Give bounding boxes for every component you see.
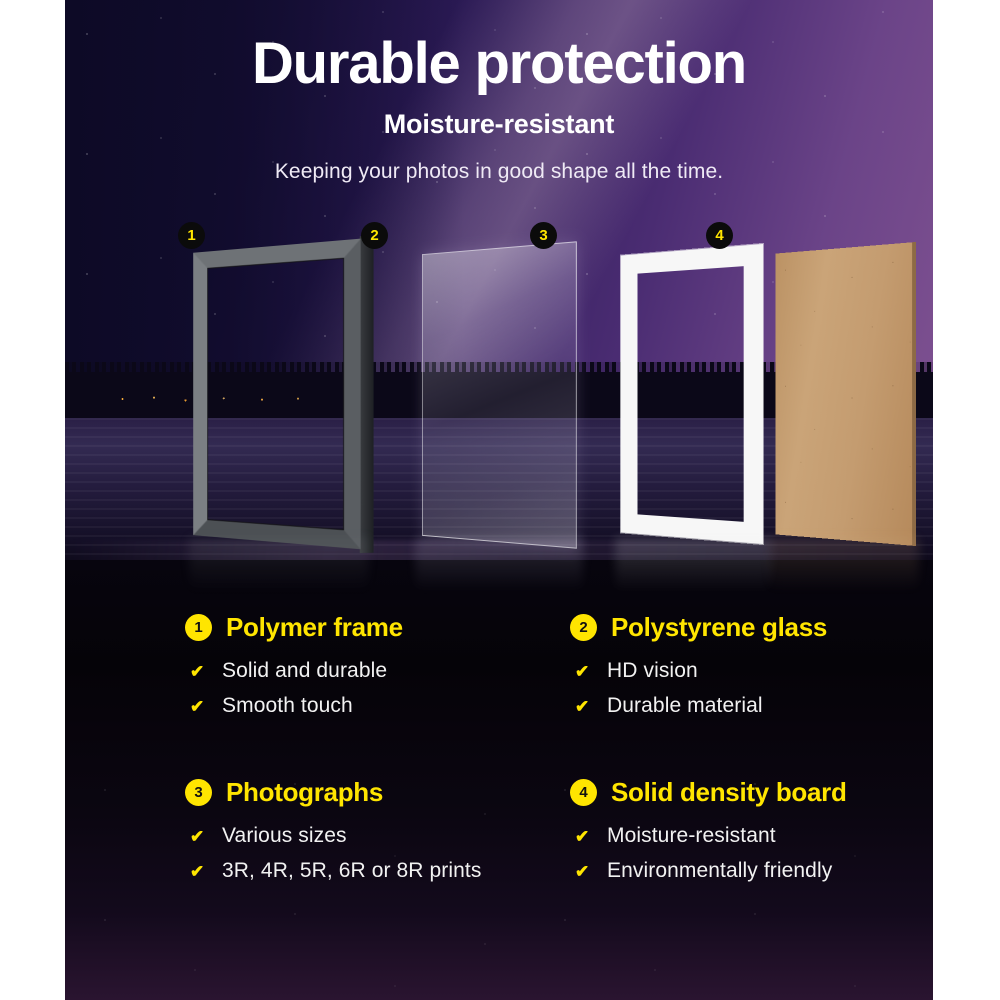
feature-bullet-list: ✔ HD vision ✔ Durable material (570, 659, 933, 718)
feature-badge-4: 4 (570, 779, 597, 806)
diagram-badge-3: 3 (530, 222, 557, 249)
diagram-badge-4: 4 (706, 222, 733, 249)
check-icon: ✔ (190, 863, 207, 880)
feature-photographs: 3 Photographs ✔ Various sizes ✔ 3R, 4R, … (185, 777, 585, 894)
bullet-label: Various sizes (222, 824, 347, 848)
diagram-badge-2: 2 (361, 222, 388, 249)
check-icon: ✔ (575, 698, 592, 715)
feature-heading: 3 Photographs (185, 777, 585, 808)
check-icon: ✔ (575, 828, 592, 845)
bullet-label: Smooth touch (222, 694, 353, 718)
feature-bullet-list: ✔ Moisture-resistant ✔ Environmentally f… (570, 824, 933, 883)
check-icon: ✔ (190, 828, 207, 845)
list-item: ✔ 3R, 4R, 5R, 6R or 8R prints (190, 859, 585, 883)
check-icon: ✔ (190, 698, 207, 715)
feature-title: Polystyrene glass (611, 612, 827, 643)
feature-badge-2: 2 (570, 614, 597, 641)
list-item: ✔ Solid and durable (190, 659, 585, 683)
layer-density-board (776, 242, 916, 546)
layer-polymer-frame (193, 239, 361, 550)
list-item: ✔ Smooth touch (190, 694, 585, 718)
feature-heading: 1 Polymer frame (185, 612, 585, 643)
scene-backdrop: Durable protection Moisture-resistant Ke… (65, 0, 933, 1000)
feature-row-top: 1 Polymer frame ✔ Solid and durable ✔ Sm… (65, 612, 933, 777)
glass-reflection (415, 538, 583, 592)
feature-grid: 1 Polymer frame ✔ Solid and durable ✔ Sm… (65, 612, 933, 942)
page-title: Durable protection (65, 34, 933, 93)
header-block: Durable protection Moisture-resistant Ke… (65, 34, 933, 184)
check-icon: ✔ (575, 863, 592, 880)
check-icon: ✔ (190, 663, 207, 680)
list-item: ✔ Various sizes (190, 824, 585, 848)
feature-title: Polymer frame (226, 612, 403, 643)
check-icon: ✔ (575, 663, 592, 680)
layer-polystyrene-glass (422, 241, 577, 548)
exploded-layer-diagram: 1 2 3 4 (65, 218, 933, 598)
bullet-label: HD vision (607, 659, 698, 683)
feature-heading: 4 Solid density board (570, 777, 933, 808)
frame-side-edge (360, 234, 374, 554)
bullet-label: Durable material (607, 694, 763, 718)
product-infographic: Durable protection Moisture-resistant Ke… (0, 0, 1000, 1000)
list-item: ✔ Durable material (575, 694, 933, 718)
feature-polystyrene-glass: 2 Polystyrene glass ✔ HD vision ✔ Durabl… (570, 612, 933, 729)
board-reflection (769, 538, 919, 592)
page-subtitle: Moisture-resistant (65, 109, 933, 140)
feature-title: Solid density board (611, 777, 847, 808)
feature-bullet-list: ✔ Various sizes ✔ 3R, 4R, 5R, 6R or 8R p… (185, 824, 585, 883)
page-tagline: Keeping your photos in good shape all th… (65, 160, 933, 184)
frame-reflection (189, 538, 369, 592)
list-item: ✔ Moisture-resistant (575, 824, 933, 848)
bullet-label: Solid and durable (222, 659, 387, 683)
feature-badge-3: 3 (185, 779, 212, 806)
feature-badge-1: 1 (185, 614, 212, 641)
feature-polymer-frame: 1 Polymer frame ✔ Solid and durable ✔ Sm… (185, 612, 585, 729)
diagram-badge-1: 1 (178, 222, 205, 249)
feature-bullet-list: ✔ Solid and durable ✔ Smooth touch (185, 659, 585, 718)
feature-title: Photographs (226, 777, 383, 808)
list-item: ✔ HD vision (575, 659, 933, 683)
frame-face (193, 239, 361, 550)
layer-photograph-mat (621, 244, 763, 544)
bullet-label: Environmentally friendly (607, 859, 832, 883)
feature-heading: 2 Polystyrene glass (570, 612, 933, 643)
bullet-label: 3R, 4R, 5R, 6R or 8R prints (222, 859, 481, 883)
bullet-label: Moisture-resistant (607, 824, 776, 848)
feature-density-board: 4 Solid density board ✔ Moisture-resista… (570, 777, 933, 894)
list-item: ✔ Environmentally friendly (575, 859, 933, 883)
mat-reflection (615, 538, 771, 592)
feature-row-bottom: 3 Photographs ✔ Various sizes ✔ 3R, 4R, … (65, 777, 933, 942)
